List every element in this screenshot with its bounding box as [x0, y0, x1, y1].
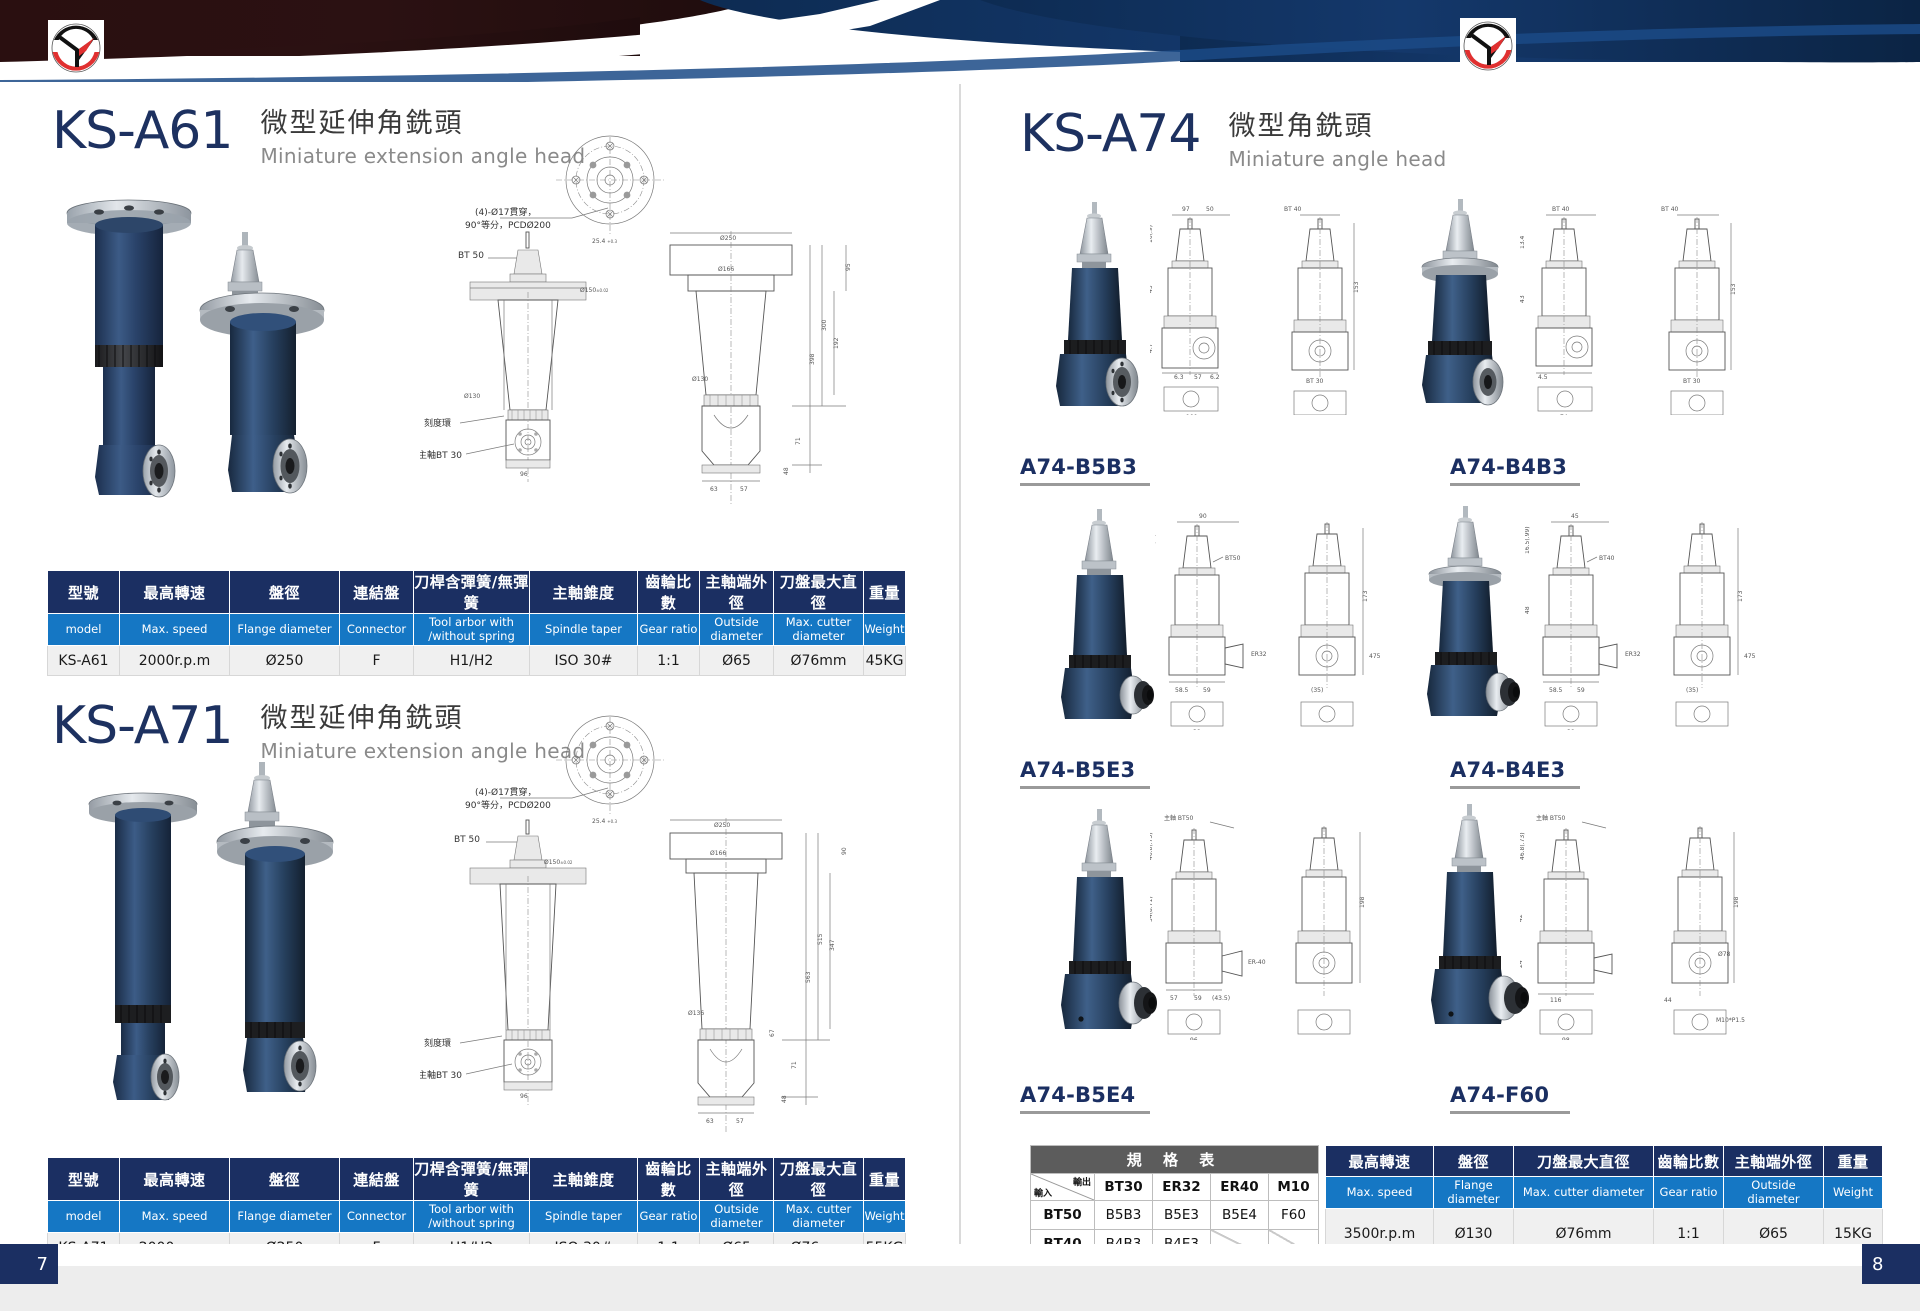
svg-text:45: 45: [1150, 285, 1154, 293]
variant-caption-a74-b5e4: A74-B5E4: [1020, 1083, 1150, 1117]
header-cn-flange: 盤徑: [230, 571, 340, 614]
header-en-weight-a71: Weight: [864, 1201, 906, 1233]
header-en-cutter: Max. cutter diameter: [774, 614, 864, 646]
header-cn-connector-a71: 連結盤: [340, 1158, 414, 1201]
header-cn-outside: 主軸端外徑: [700, 571, 774, 614]
svg-text:38: 38: [1193, 729, 1201, 730]
footer-white-strip: [0, 1244, 1920, 1266]
header-cn-gear: 齒輪比數: [638, 571, 700, 614]
annotation-scale-ring-a71: 刻度環: [424, 1037, 451, 1049]
header-en-gear-a74: Gear ratio: [1654, 1177, 1724, 1209]
company-logo-right: [1460, 18, 1516, 74]
svg-text:BT50: BT50: [1225, 555, 1241, 562]
svg-text:96: 96: [520, 1093, 528, 1100]
matrix-corner-cell: 輸出 輸入: [1031, 1174, 1095, 1201]
svg-text:Ø130: Ø130: [692, 376, 708, 383]
svg-text:6.2: 6.2: [1210, 374, 1220, 381]
svg-text:BT 40: BT 40: [1552, 206, 1570, 213]
matrix-cell-b5b3: B5B3: [1095, 1201, 1153, 1230]
spec-table-ks-a61: 型號 最高轉速 盤徑 連結盤 刀桿含彈簧/無彈簧 主軸錐度 齒輪比數 主軸端外徑…: [47, 570, 906, 676]
svg-text:Ø130: Ø130: [464, 393, 480, 400]
svg-text:48: 48: [1150, 962, 1152, 970]
svg-text:71: 71: [795, 437, 802, 445]
header-cn-model: 型號: [48, 571, 120, 614]
matrix-col-er40: ER40: [1211, 1174, 1269, 1201]
annotation-hole-note-1: (4)-Ø17貫穿，: [475, 206, 537, 218]
spec-data-row: KS-A61 2000r.p.m Ø250 F H1/H2 ISO 30# 1:…: [48, 646, 906, 676]
cell-arbor: H1/H2: [414, 646, 530, 676]
header-en-flange: Flange diameter: [230, 614, 340, 646]
product-photo-ks-a61-angled: [190, 230, 380, 530]
svg-text:58.5: 58.5: [1549, 687, 1563, 694]
spec-header-row-cn: 型號 最高轉速 盤徑 連結盤 刀桿含彈簧/無彈簧 主軸錐度 齒輪比數 主軸端外徑…: [48, 571, 906, 614]
variant-caption-a74-b5e3: A74-B5E3: [1020, 758, 1150, 792]
svg-text:57: 57: [1194, 374, 1202, 381]
svg-text:54(8.71): 54(8.71): [1150, 896, 1154, 922]
header-cn-speed-a74: 最高轉速: [1326, 1146, 1434, 1177]
header-cn-gear-a74: 齒輪比數: [1654, 1146, 1724, 1177]
header-cn-flange-a74: 盤徑: [1434, 1146, 1514, 1177]
svg-text:59: 59: [1194, 995, 1202, 1002]
spec-table-ks-a74: 最高轉速 盤徑 刀盤最大直徑 齒輪比數 主軸端外徑 重量 Max. speed …: [1325, 1145, 1883, 1259]
cell-flange: Ø250: [230, 646, 340, 676]
svg-text:ER32: ER32: [1251, 651, 1267, 658]
header-cn-arbor-a71: 刀桿含彈簧/無彈簧: [414, 1158, 530, 1201]
header-en-outside-a74: Outside diameter: [1724, 1177, 1824, 1209]
header-en-arbor: Tool arbor with /without spring: [414, 614, 530, 646]
header-cn-flange-a71: 盤徑: [230, 1158, 340, 1201]
svg-text:4.5: 4.5: [1538, 374, 1548, 381]
matrix-header-row: 輸出 輸入 BT30 ER32 ER40 M10: [1031, 1174, 1319, 1201]
svg-text:43: 43: [1520, 295, 1526, 303]
svg-text:63: 63: [706, 1118, 714, 1125]
annotation-scale-ring: 刻度環: [424, 417, 451, 429]
cell-speed: 2000r.p.m: [120, 646, 230, 676]
cell-outside: Ø65: [700, 646, 774, 676]
header-en-flange-a74: Flange diameter: [1434, 1177, 1514, 1209]
svg-text:515: 515: [817, 933, 824, 945]
annotation-hole-note-2-a71: 90°等分，PCDØ200: [465, 799, 551, 811]
header-en-cutter-a74: Max. cutter diameter: [1514, 1177, 1654, 1209]
svg-text:(43.5): (43.5): [1212, 995, 1230, 1002]
header-cn-taper-a71: 主軸錐度: [530, 1158, 638, 1201]
spec-header-row-cn-a71: 型號 最高轉速 盤徑 連結盤 刀桿含彈簧/無彈簧 主軸錐度 齒輪比數 主軸端外徑…: [48, 1158, 906, 1201]
cell-connector: F: [340, 646, 414, 676]
svg-text:M10*P1.5: M10*P1.5: [1716, 1017, 1745, 1024]
technical-drawing-a74-f60: 主軸 BT50 46.8(.73) 42 24 116 98: [1520, 800, 1780, 1040]
page-number-right: 8: [1862, 1244, 1920, 1284]
variant-caption-a74-f60: A74-F60: [1450, 1083, 1570, 1117]
cell-model: KS-A61: [48, 646, 120, 676]
svg-text:Ø150±0.02: Ø150±0.02: [544, 859, 573, 866]
svg-text:192: 192: [833, 337, 840, 349]
header-en-weight-a74: Weight: [1824, 1177, 1883, 1209]
svg-text:45: 45: [1155, 602, 1157, 610]
svg-text:300: 300: [821, 319, 828, 331]
matrix-title-row: 規 格 表: [1031, 1146, 1319, 1174]
svg-text:58.5: 58.5: [1175, 687, 1189, 694]
svg-text:74: 74: [1560, 414, 1568, 415]
header-cn-model-a71: 型號: [48, 1158, 120, 1201]
variant-caption-a74-b5b3: A74-B5B3: [1020, 455, 1150, 489]
svg-text:48: 48: [783, 467, 790, 475]
annotation-bt50-label: BT 50: [458, 251, 484, 261]
svg-text:48: 48: [781, 1095, 788, 1103]
cell-gear: 1:1: [638, 646, 700, 676]
header-cn-weight-a71: 重量: [864, 1158, 906, 1201]
top-banner: [0, 0, 1920, 84]
header-cn-cutter: 刀盤最大直徑: [774, 571, 864, 614]
svg-text:24: 24: [1520, 960, 1524, 968]
annotation-bt50-label-a71: BT 50: [454, 835, 480, 845]
page-gutter: [959, 84, 961, 1244]
matrix-rowhead-bt50: BT50: [1031, 1201, 1095, 1230]
cell-taper: ISO 30#: [530, 646, 638, 676]
svg-text:(35): (35): [1686, 687, 1698, 694]
svg-text:16(.9): 16(.9): [1155, 534, 1157, 552]
svg-text:97: 97: [1182, 206, 1190, 213]
technical-drawing-ks-a71: (4)-Ø17貫穿， 90°等分，PCDØ200 25.4 +0.3 BT 50…: [420, 715, 920, 1135]
matrix-col-bt30: BT30: [1095, 1174, 1153, 1201]
right-page-tables: 規 格 表 輸出 輸入 BT30 ER32 ER40 M10 BT50 B5B3: [1030, 1145, 1883, 1259]
svg-text:46.8(.73): 46.8(.73): [1150, 832, 1154, 860]
technical-drawing-a74-b4b3: BT 40 13.4 43 4.5 74 BT 40: [1520, 195, 1780, 415]
svg-text:Ø250: Ø250: [714, 822, 730, 829]
header-en-weight: Weight: [864, 614, 906, 646]
svg-text:BT 30: BT 30: [1683, 378, 1701, 385]
svg-text:71: 71: [791, 1061, 798, 1069]
matrix-cell-f60: F60: [1269, 1201, 1319, 1230]
product-subtitle-cn-ks-a74: 微型角銑頭: [1228, 110, 1446, 144]
header-en-outside-a71: Outside diameter: [700, 1201, 774, 1233]
svg-text:Ø166: Ø166: [710, 850, 726, 857]
annotation-spindle-bt30-a71: 主軸BT 30: [420, 1069, 462, 1081]
svg-text:ER32: ER32: [1625, 651, 1641, 658]
svg-text:63: 63: [710, 486, 718, 493]
variant-caption-a74-b4b3: A74-B4B3: [1450, 455, 1580, 489]
svg-text:13.4: 13.4: [1520, 235, 1526, 249]
matrix-cell-b5e3: B5E3: [1153, 1201, 1211, 1230]
matrix-title: 規 格 表: [1031, 1146, 1319, 1174]
svg-text:4.7: 4.7: [1150, 343, 1154, 353]
header-en-speed: Max. speed: [120, 614, 230, 646]
matrix-cell-b5e4: B5E4: [1211, 1201, 1269, 1230]
page-number-left: 7: [0, 1244, 58, 1284]
header-en-speed-a71: Max. speed: [120, 1201, 230, 1233]
svg-text:563: 563: [805, 971, 812, 983]
header-cn-cutter-a74: 刀盤最大直徑: [1514, 1146, 1654, 1177]
svg-text:67: 67: [769, 1029, 776, 1037]
annotation-spindle-bt50-f60: 主軸 BT50: [1536, 814, 1566, 822]
header-en-speed-a74: Max. speed: [1326, 1177, 1434, 1209]
svg-text:BT 30: BT 30: [1306, 378, 1324, 385]
header-en-arbor-a71: Tool arbor with /without spring: [414, 1201, 530, 1233]
svg-text:(35): (35): [1311, 687, 1323, 694]
svg-text:ER-40: ER-40: [1248, 959, 1266, 966]
header-cn-arbor: 刀桿含彈簧/無彈簧: [414, 571, 530, 614]
header-cn-taper: 主軸錐度: [530, 571, 638, 614]
variant-caption-a74-b4e3: A74-B4E3: [1450, 758, 1580, 792]
svg-text:116: 116: [1550, 997, 1562, 1004]
header-cn-speed: 最高轉速: [120, 571, 230, 614]
svg-text:Ø136: Ø136: [688, 1010, 704, 1017]
svg-text:16(.9): 16(.9): [1150, 225, 1154, 243]
model-name-ks-a61: KS-A61: [52, 105, 232, 157]
svg-text:59: 59: [1203, 687, 1211, 694]
footer-grey-strip: [0, 1266, 1920, 1311]
matrix-col-m10: M10: [1269, 1174, 1319, 1201]
svg-text:BT40: BT40: [1599, 555, 1615, 562]
svg-text:BT 40: BT 40: [1284, 206, 1302, 213]
spec-header-row-cn-a74: 最高轉速 盤徑 刀盤最大直徑 齒輪比數 主軸端外徑 重量: [1326, 1146, 1883, 1177]
matrix-corner-output: 輸出: [1073, 1175, 1091, 1188]
spec-header-row-en: model Max. speed Flange diameter Connect…: [48, 614, 906, 646]
header-cn-outside-a71: 主軸端外徑: [700, 1158, 774, 1201]
svg-text:59: 59: [1577, 687, 1585, 694]
annotation-hole-note-2: 90°等分，PCDØ200: [465, 219, 551, 231]
header-cn-gear-a71: 齒輪比數: [638, 1158, 700, 1201]
matrix-col-er32: ER32: [1153, 1174, 1211, 1201]
header-en-connector: Connector: [340, 614, 414, 646]
cell-cutter: Ø76mm: [774, 646, 864, 676]
technical-drawing-a74-b5b3: 9750 16(.9) 45 4.7 6.357 6.2 100 BT 40: [1150, 195, 1400, 415]
header-cn-weight-a74: 重量: [1824, 1146, 1883, 1177]
annotation-spindle-bt30: 主軸BT 30: [420, 449, 462, 461]
spec-header-row-en-a74: Max. speed Flange diameter Max. cutter d…: [1326, 1177, 1883, 1209]
header-en-gear: Gear ratio: [638, 614, 700, 646]
model-name-ks-a71: KS-A71: [52, 700, 232, 752]
header-en-flange-a71: Flange diameter: [230, 1201, 340, 1233]
header-en-cutter-a71: Max. cutter diameter: [774, 1201, 864, 1233]
svg-text:16.5(.99): 16.5(.99): [1525, 526, 1531, 554]
svg-text:57: 57: [1170, 995, 1178, 1002]
svg-text:100: 100: [1186, 414, 1198, 415]
header-cn-weight: 重量: [864, 571, 906, 614]
header-en-taper-a71: Spindle taper: [530, 1201, 638, 1233]
svg-text:98: 98: [1562, 1037, 1570, 1040]
header-en-model-a71: model: [48, 1201, 120, 1233]
cell-weight: 45KG: [864, 646, 906, 676]
product-title-ks-a74: KS-A74 微型角銑頭 Miniature angle head: [1020, 108, 1447, 171]
header-cn-cutter-a71: 刀盤最大直徑: [774, 1158, 864, 1201]
svg-text:96: 96: [520, 471, 528, 478]
svg-text:Ø78: Ø78: [1718, 951, 1731, 958]
svg-text:6.3: 6.3: [1174, 374, 1184, 381]
variant-matrix-table: 規 格 表 輸出 輸入 BT30 ER32 ER40 M10 BT50 B5B3: [1030, 1145, 1319, 1259]
svg-text:50: 50: [1206, 206, 1214, 213]
svg-text:398: 398: [809, 353, 816, 365]
technical-drawing-a74-b5e4: 主軸 BT50 46.8(.73) 54(8.71) 48 ER-40 5759…: [1150, 800, 1400, 1040]
svg-text:48: 48: [1525, 606, 1531, 614]
svg-text:90: 90: [1199, 513, 1207, 520]
svg-text:90: 90: [841, 847, 848, 855]
header-en-model: model: [48, 614, 120, 646]
svg-text:42: 42: [1520, 914, 1524, 922]
product-photo-ks-a71-angled: [205, 760, 385, 1130]
svg-text:46.8(.73): 46.8(.73): [1520, 832, 1526, 860]
svg-text:Ø150±0.02: Ø150±0.02: [580, 287, 609, 294]
svg-text:44: 44: [1664, 997, 1672, 1004]
svg-text:347: 347: [829, 939, 836, 951]
svg-text:45: 45: [1571, 513, 1579, 520]
technical-drawing-a74-b4e3: 45 BT40 16.5(.99) 48 ER32 58.559 38: [1525, 500, 1785, 730]
header-en-connector-a71: Connector: [340, 1201, 414, 1233]
matrix-row-bt50: BT50 B5B3 B5E3 B5E4 F60: [1031, 1201, 1319, 1230]
header-cn-connector: 連結盤: [340, 571, 414, 614]
svg-text:Ø250: Ø250: [720, 235, 736, 242]
svg-text:BT 40: BT 40: [1661, 206, 1679, 213]
svg-text:25.4 +0.3: 25.4 +0.3: [592, 238, 617, 245]
svg-text:475: 475: [1369, 653, 1381, 660]
svg-text:Ø166: Ø166: [718, 266, 734, 273]
company-logo-left: [48, 20, 104, 76]
header-en-gear-a71: Gear ratio: [638, 1201, 700, 1233]
technical-drawing-a74-b5e3: 90 BT50 16(.9) 45 ER32 58.559 38: [1155, 500, 1405, 730]
svg-text:38: 38: [1567, 729, 1575, 730]
header-cn-speed-a71: 最高轉速: [120, 1158, 230, 1201]
model-name-ks-a74: KS-A74: [1020, 108, 1200, 160]
svg-text:25.4 +0.3: 25.4 +0.3: [592, 818, 617, 825]
product-subtitle-en-ks-a74: Miniature angle head: [1228, 147, 1446, 171]
svg-text:95: 95: [845, 263, 852, 271]
annotation-hole-note-1-a71: (4)-Ø17貫穿，: [475, 786, 537, 798]
spec-header-row-en-a71: model Max. speed Flange diameter Connect…: [48, 1201, 906, 1233]
header-cn-outside-a74: 主軸端外徑: [1724, 1146, 1824, 1177]
header-en-outside: Outside diameter: [700, 614, 774, 646]
header-en-taper: Spindle taper: [530, 614, 638, 646]
svg-text:57: 57: [740, 486, 748, 493]
technical-drawing-ks-a61: (4)-Ø17貫穿， 90°等分，PCDØ200 25.4 +0.3 BT 50…: [420, 135, 920, 535]
matrix-corner-input: 輸入: [1034, 1186, 1052, 1199]
svg-text:57: 57: [736, 1118, 744, 1125]
svg-text:475: 475: [1744, 653, 1756, 660]
svg-text:96: 96: [1190, 1037, 1198, 1040]
annotation-spindle-bt50-b5e4: 主軸 BT50: [1164, 814, 1194, 822]
